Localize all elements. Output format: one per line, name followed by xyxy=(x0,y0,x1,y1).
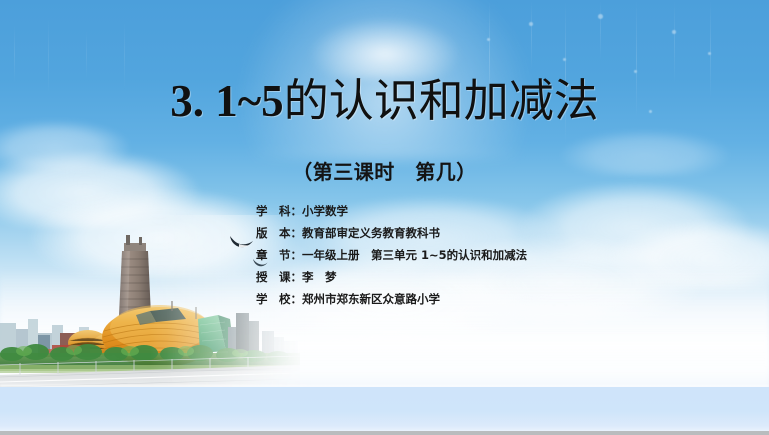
info-label-subject: 学 科： xyxy=(256,200,302,222)
slide-title-chinese: 的认识和加减法 xyxy=(284,76,599,126)
presentation-slide: 3. 1~5的认识和加减法 （第三课时 第几） 学 科：小学数学 版 本：教育部… xyxy=(0,0,769,435)
info-label-edition: 版 本： xyxy=(256,222,302,244)
info-label-chapter: 章 节： xyxy=(256,244,302,266)
info-row-school: 学 校：郑州市郑东新区众意路小学 xyxy=(256,288,527,310)
info-value-chapter: 一年级上册 第三单元 1~5的认识和加减法 xyxy=(302,244,527,266)
sky-glow-core xyxy=(310,18,460,78)
bottom-band xyxy=(0,387,769,431)
info-value-edition: 教育部审定义务教育教科书 xyxy=(302,222,440,244)
bottom-strip xyxy=(0,431,769,435)
seagull-large-icon xyxy=(228,234,254,257)
slide-info-list: 学 科：小学数学 版 本：教育部审定义务教育教科书 章 节：一年级上册 第三单元… xyxy=(256,200,527,310)
slide-title: 3. 1~5的认识和加减法 xyxy=(0,78,769,125)
info-row-edition: 版 本：教育部审定义务教育教科书 xyxy=(256,222,527,244)
slide-subtitle: （第三课时 第几） xyxy=(0,156,769,185)
info-row-teacher: 授 课：李 梦 xyxy=(256,266,527,288)
info-label-school: 学 校： xyxy=(256,288,302,310)
info-value-school: 郑州市郑东新区众意路小学 xyxy=(302,288,440,310)
info-value-subject: 小学数学 xyxy=(302,200,348,222)
slide-title-number: 3. 1~5 xyxy=(170,76,283,126)
info-value-teacher: 李 梦 xyxy=(302,266,337,288)
info-row-chapter: 章 节：一年级上册 第三单元 1~5的认识和加减法 xyxy=(256,244,527,266)
info-row-subject: 学 科：小学数学 xyxy=(256,200,527,222)
info-label-teacher: 授 课： xyxy=(256,266,302,288)
